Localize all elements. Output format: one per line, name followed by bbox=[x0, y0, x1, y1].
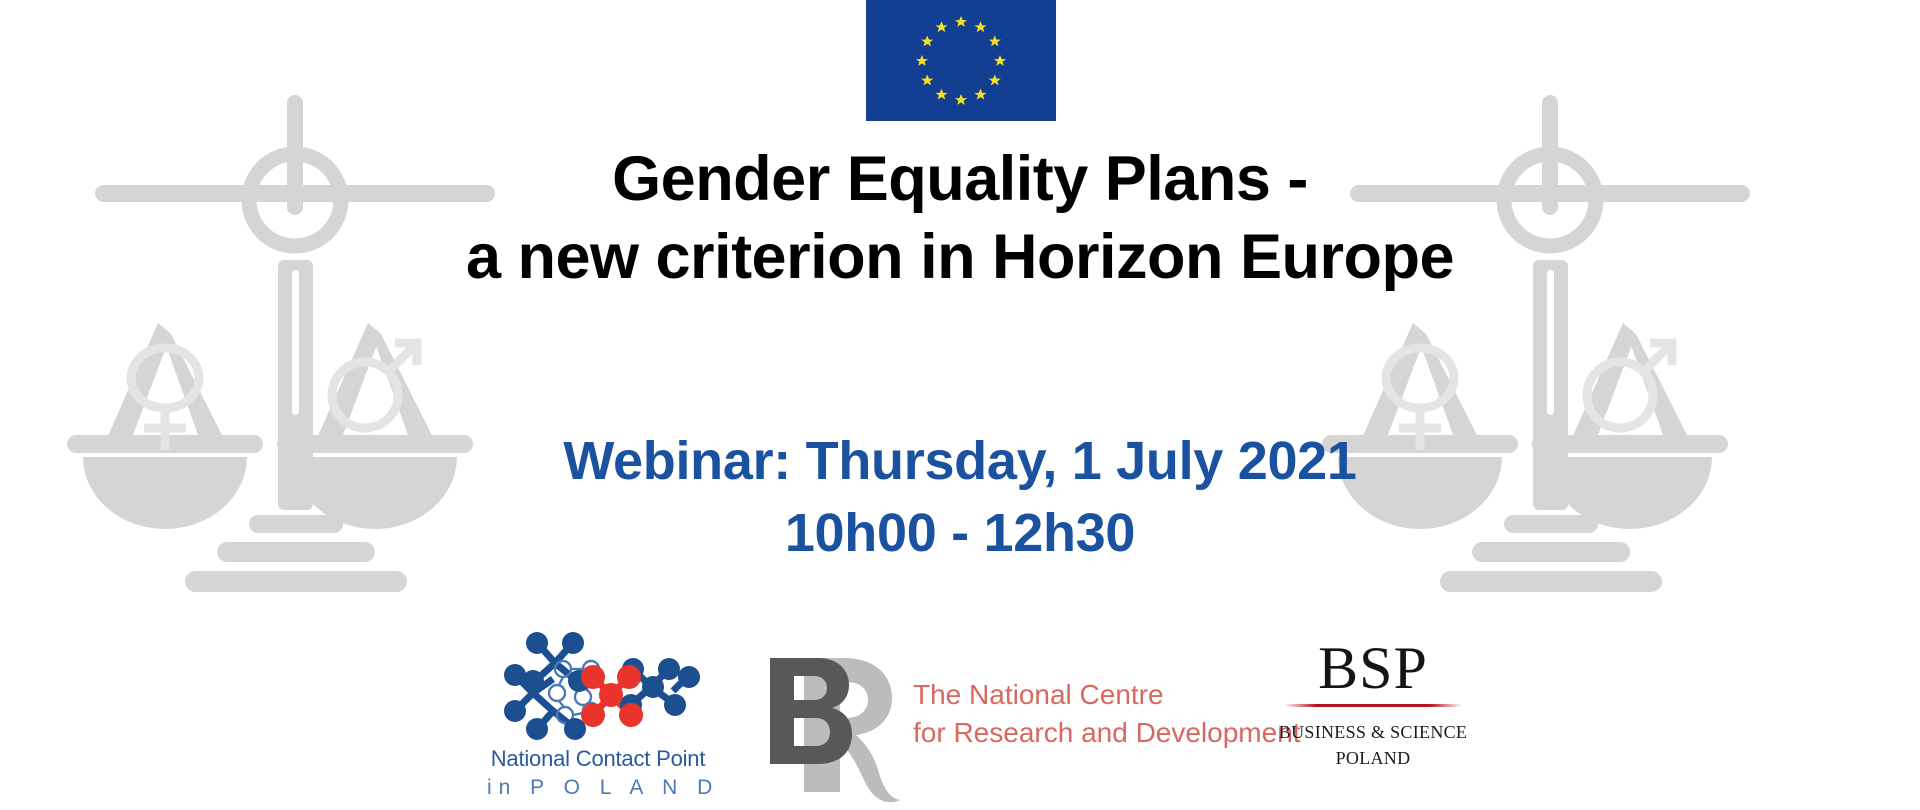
logo-national-contact-point: National Contact Point in P O L A N D bbox=[487, 631, 709, 801]
event-details: Webinar: Thursday, 1 July 2021 10h00 - 1… bbox=[0, 425, 1920, 569]
title-line-2: a new criterion in Horizon Europe bbox=[0, 218, 1920, 296]
event-time-line: 10h00 - 12h30 bbox=[0, 497, 1920, 569]
ncp-wordmark: National Contact Point in P O L A N D bbox=[487, 746, 709, 800]
bsp-line-2: POLAND bbox=[1278, 745, 1468, 771]
logo-national-centre-research-development: The National Centre for Research and Dev… bbox=[748, 640, 1258, 806]
page-title: Gender Equality Plans - a new criterion … bbox=[0, 140, 1920, 296]
bsp-divider bbox=[1284, 704, 1462, 707]
ncbr-monogram-icon bbox=[748, 640, 928, 806]
ncbr-line-2: for Research and Development bbox=[913, 714, 1263, 752]
logo-business-science-poland: BSP BUSINESS & SCIENCE POLAND bbox=[1278, 636, 1468, 796]
ncbr-line-1: The National Centre bbox=[913, 676, 1263, 714]
bsp-line-1: BUSINESS & SCIENCE bbox=[1278, 719, 1468, 745]
event-date-line: Webinar: Thursday, 1 July 2021 bbox=[0, 425, 1920, 497]
eu-flag-icon bbox=[866, 0, 1056, 121]
ncp-line-1: National Contact Point bbox=[487, 746, 709, 772]
bsp-monogram: BSP bbox=[1278, 636, 1468, 700]
webinar-poster: Gender Equality Plans - a new criterion … bbox=[0, 0, 1920, 810]
ncp-line-2: in P O L A N D bbox=[487, 776, 709, 800]
title-line-1: Gender Equality Plans - bbox=[0, 140, 1920, 218]
molecule-network-icon bbox=[487, 631, 709, 743]
partner-logo-strip: National Contact Point in P O L A N D Th… bbox=[0, 626, 1920, 810]
ncbr-wordmark: The National Centre for Research and Dev… bbox=[913, 676, 1263, 752]
